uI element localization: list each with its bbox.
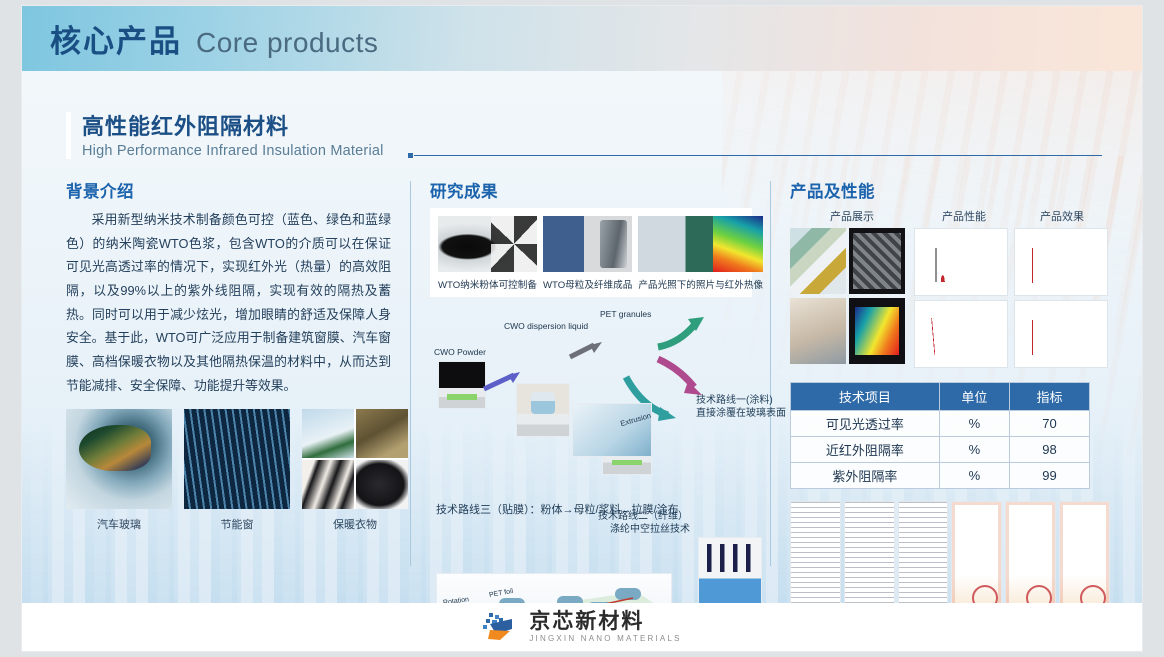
route1-caption-line2: 直接涂覆在玻璃表面 <box>696 404 786 419</box>
application-thumbnails: 汽车玻璃 节能窗 保暖衣物 <box>66 409 391 532</box>
spec-unit: % <box>939 437 1009 463</box>
label-cwo-powder: CWO Powder <box>434 347 486 357</box>
packed-material-image <box>849 228 905 294</box>
thermal-camera-image <box>849 298 905 364</box>
column-divider-left <box>410 181 411 566</box>
table-header-item: 技术项目 <box>791 383 940 411</box>
arrow-powder-to-dispersion <box>482 369 522 395</box>
research-item: WTO母粒及纤维成品 <box>543 216 632 291</box>
table-row: 紫外阻隔率 % 99 <box>791 463 1090 489</box>
product-image-grid <box>790 228 1110 372</box>
spec-value: 98 <box>1009 437 1089 463</box>
route2-caption-line2: 涤纶中空拉丝技术 <box>610 520 690 535</box>
slide: 核心产品 Core products 高性能红外阻隔材料 High Perfor… <box>22 6 1142 651</box>
specifications-table: 技术项目 单位 指标 可见光透过率 % 70 近红外阻隔率 % 98 紫外阻隔率 <box>790 382 1090 489</box>
spec-value: 99 <box>1009 463 1089 489</box>
section-accent-bar <box>66 112 71 159</box>
extrusion-image <box>572 403 652 457</box>
left-column-heading: 背景介绍 <box>66 178 391 202</box>
application-caption: 保暖衣物 <box>302 516 408 532</box>
table-row: 可见光透过率 % 70 <box>791 411 1090 437</box>
research-item: 产品光照下的照片与红外热像 <box>638 216 763 291</box>
company-logo: 京芯新材料 JINGXIN NANO MATERIALS <box>482 611 681 643</box>
left-column: 背景介绍 采用新型纳米技术制备颜色可控（蓝色、绿色和蓝绿色）的纳米陶瓷WTO色浆… <box>66 178 391 532</box>
table-header-unit: 单位 <box>939 383 1009 411</box>
insulation-curve-chart <box>914 300 1008 368</box>
process-flow-diagram: CWO Powder CWO dispersion liquid PET gra… <box>430 311 770 536</box>
middle-column: 研究成果 WTO纳米粉体可控制备 WTO母粒及纤维成品 产品光照下的照片与红外热… <box>430 178 760 536</box>
slide-header: 核心产品 Core products <box>22 6 1142 71</box>
arrow-dispersion-to-granules <box>568 339 606 363</box>
research-caption: WTO纳米粉体可控制备 <box>438 277 537 291</box>
wto-masterbatch-image <box>543 216 632 272</box>
performance-charts <box>914 228 1006 372</box>
pixel-arrow-icon <box>482 612 520 642</box>
wto-powder-image <box>438 216 537 272</box>
arrow-to-coating-route <box>654 315 708 353</box>
application-item: 汽车玻璃 <box>66 409 172 532</box>
table-row: 近红外阻隔率 % 98 <box>791 437 1090 463</box>
effect-charts <box>1014 228 1106 372</box>
application-demo-image <box>790 298 846 364</box>
temperature-rise-chart <box>1014 228 1108 296</box>
infrared-thermal-image <box>638 216 763 272</box>
research-caption: WTO母粒及纤维成品 <box>543 277 632 291</box>
research-caption: 产品光照下的照片与红外热像 <box>638 277 763 291</box>
cwo-powder-image <box>438 361 486 409</box>
header-title: 核心产品 Core products <box>50 16 378 61</box>
section-title-en: High Performance Infrared Insulation Mat… <box>82 143 1106 159</box>
middle-column-heading: 研究成果 <box>430 178 760 202</box>
logo-text: 京芯新材料 JINGXIN NANO MATERIALS <box>529 611 681 643</box>
thermal-clothing-image <box>302 409 408 509</box>
spec-name: 紫外阻隔率 <box>791 463 940 489</box>
logo-mark-icon <box>482 612 520 642</box>
right-column-heading: 产品及性能 <box>790 178 1110 202</box>
transmittance-curve-chart <box>914 228 1008 296</box>
subcaption-product-performance: 产品性能 <box>914 208 1014 224</box>
header-title-en: Core products <box>196 27 378 59</box>
section-header: 高性能红外阻隔材料 High Performance Infrared Insu… <box>66 109 1106 159</box>
cwo-dispersion-image <box>516 383 570 437</box>
comparison-chart <box>1014 300 1108 368</box>
logo-name-cn: 京芯新材料 <box>529 611 681 632</box>
background-paragraph: 采用新型纳米技术制备颜色可控（蓝色、绿色和蓝绿色）的纳米陶瓷WTO色浆，包含WT… <box>66 208 391 397</box>
spec-value: 70 <box>1009 411 1089 437</box>
spec-name: 近红外阻隔率 <box>791 437 940 463</box>
slide-footer: 京芯新材料 JINGXIN NANO MATERIALS <box>22 603 1142 651</box>
application-item: 节能窗 <box>184 409 290 532</box>
label-cwo-dispersion: CWO dispersion liquid <box>504 321 588 331</box>
spec-unit: % <box>939 411 1009 437</box>
application-item: 保暖衣物 <box>302 409 408 532</box>
right-column: 产品及性能 产品展示 产品性能 产品效果 <box>790 178 1110 621</box>
subcaption-product-display: 产品展示 <box>790 208 914 224</box>
spec-unit: % <box>939 463 1009 489</box>
subcaption-product-effect: 产品效果 <box>1014 208 1110 224</box>
logo-name-en: JINGXIN NANO MATERIALS <box>529 635 681 643</box>
energy-window-image <box>184 409 290 509</box>
coated-glass-sample-image <box>790 228 846 294</box>
application-caption: 节能窗 <box>184 516 290 532</box>
application-caption: 汽车玻璃 <box>66 516 172 532</box>
spec-name: 可见光透过率 <box>791 411 940 437</box>
table-header-row: 技术项目 单位 指标 <box>791 383 1090 411</box>
column-divider-right <box>770 181 771 566</box>
product-display-images <box>790 228 906 372</box>
section-rule <box>414 155 1102 156</box>
section-title-cn: 高性能红外阻隔材料 <box>82 109 1106 141</box>
label-pet-granules: PET granules <box>600 309 651 319</box>
research-item: WTO纳米粉体可控制备 <box>438 216 537 291</box>
car-glass-image <box>66 409 172 509</box>
header-title-cn: 核心产品 <box>50 16 182 61</box>
product-subcaptions: 产品展示 产品性能 产品效果 <box>790 208 1110 224</box>
research-results-panel: WTO纳米粉体可控制备 WTO母粒及纤维成品 产品光照下的照片与红外热像 <box>430 208 752 297</box>
table-header-value: 指标 <box>1009 383 1089 411</box>
